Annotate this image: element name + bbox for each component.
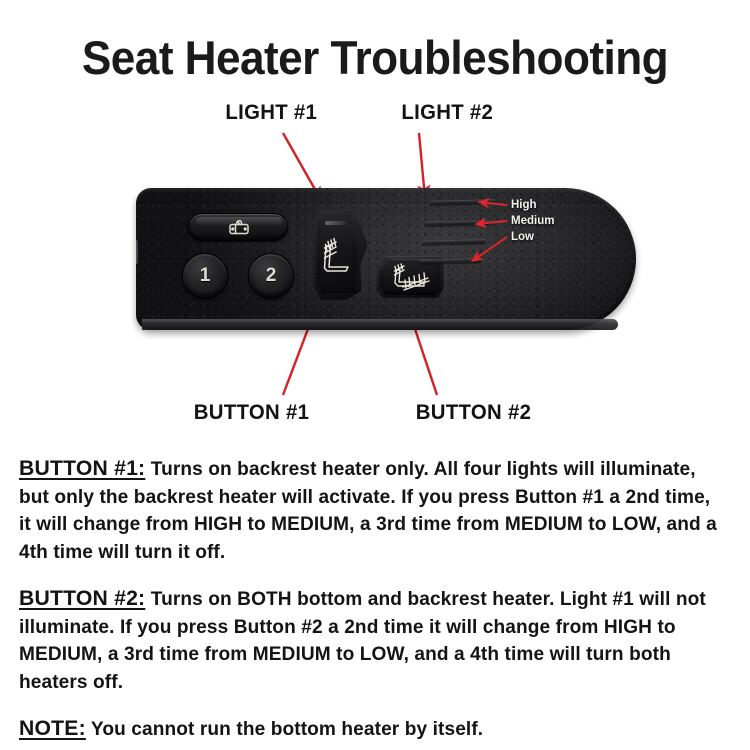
paragraph-note-text: You cannot run the bottom heater by itse… (86, 718, 483, 740)
panel-bottom-lip (142, 319, 618, 330)
paragraph-button-1: BUTTON #1: Turns on backrest heater only… (19, 455, 722, 566)
memory-seat-icon (189, 214, 289, 242)
panel-housing: 1 2 (136, 188, 636, 330)
page-title: Seat Heater Troubleshooting (23, 32, 728, 84)
preset-button-1-label: 1 (200, 265, 211, 287)
preset-button-2-label: 2 (266, 265, 277, 287)
level-label-high: High (511, 199, 537, 212)
indicator-light-slot-4 (419, 258, 481, 264)
level-label-medium: Medium (511, 215, 554, 228)
callout-label-light-2: LIGHT #2 (401, 101, 493, 125)
seat-control-panel: 1 2 (136, 188, 636, 338)
instructions-body: BUTTON #1: Turns on backrest heater only… (19, 455, 733, 744)
callout-label-button-2: BUTTON #2 (416, 401, 531, 425)
paragraph-button-1-lead: BUTTON #1: (19, 456, 145, 480)
infographic-page: Seat Heater Troubleshooting LIGHT #1 LIG… (0, 0, 750, 750)
level-label-low: Low (511, 231, 534, 244)
backrest-heater-icon (312, 208, 368, 300)
paragraph-button-2-lead: BUTTON #2: (19, 586, 145, 610)
control-panel-diagram: LIGHT #1 LIGHT #2 BUTTON #1 BUTTON #2 (0, 95, 750, 440)
paragraph-note-lead: NOTE: (19, 716, 86, 740)
memory-seat-button[interactable] (188, 213, 288, 241)
panel-side-tab (136, 240, 138, 264)
paragraph-note: NOTE: You cannot run the bottom heater b… (19, 715, 722, 744)
indicator-light-slot-1 (430, 199, 496, 205)
preset-button-1[interactable]: 1 (182, 253, 228, 299)
callout-label-button-1: BUTTON #1 (194, 401, 309, 425)
backrest-heater-button[interactable] (312, 208, 368, 300)
preset-button-2[interactable]: 2 (248, 253, 294, 299)
callout-label-light-1: LIGHT #1 (225, 101, 317, 125)
indicator-light-slot-2 (426, 220, 492, 226)
paragraph-button-2: BUTTON #2: Turns on BOTH bottom and back… (19, 585, 722, 696)
indicator-light-slot-3 (422, 239, 486, 245)
